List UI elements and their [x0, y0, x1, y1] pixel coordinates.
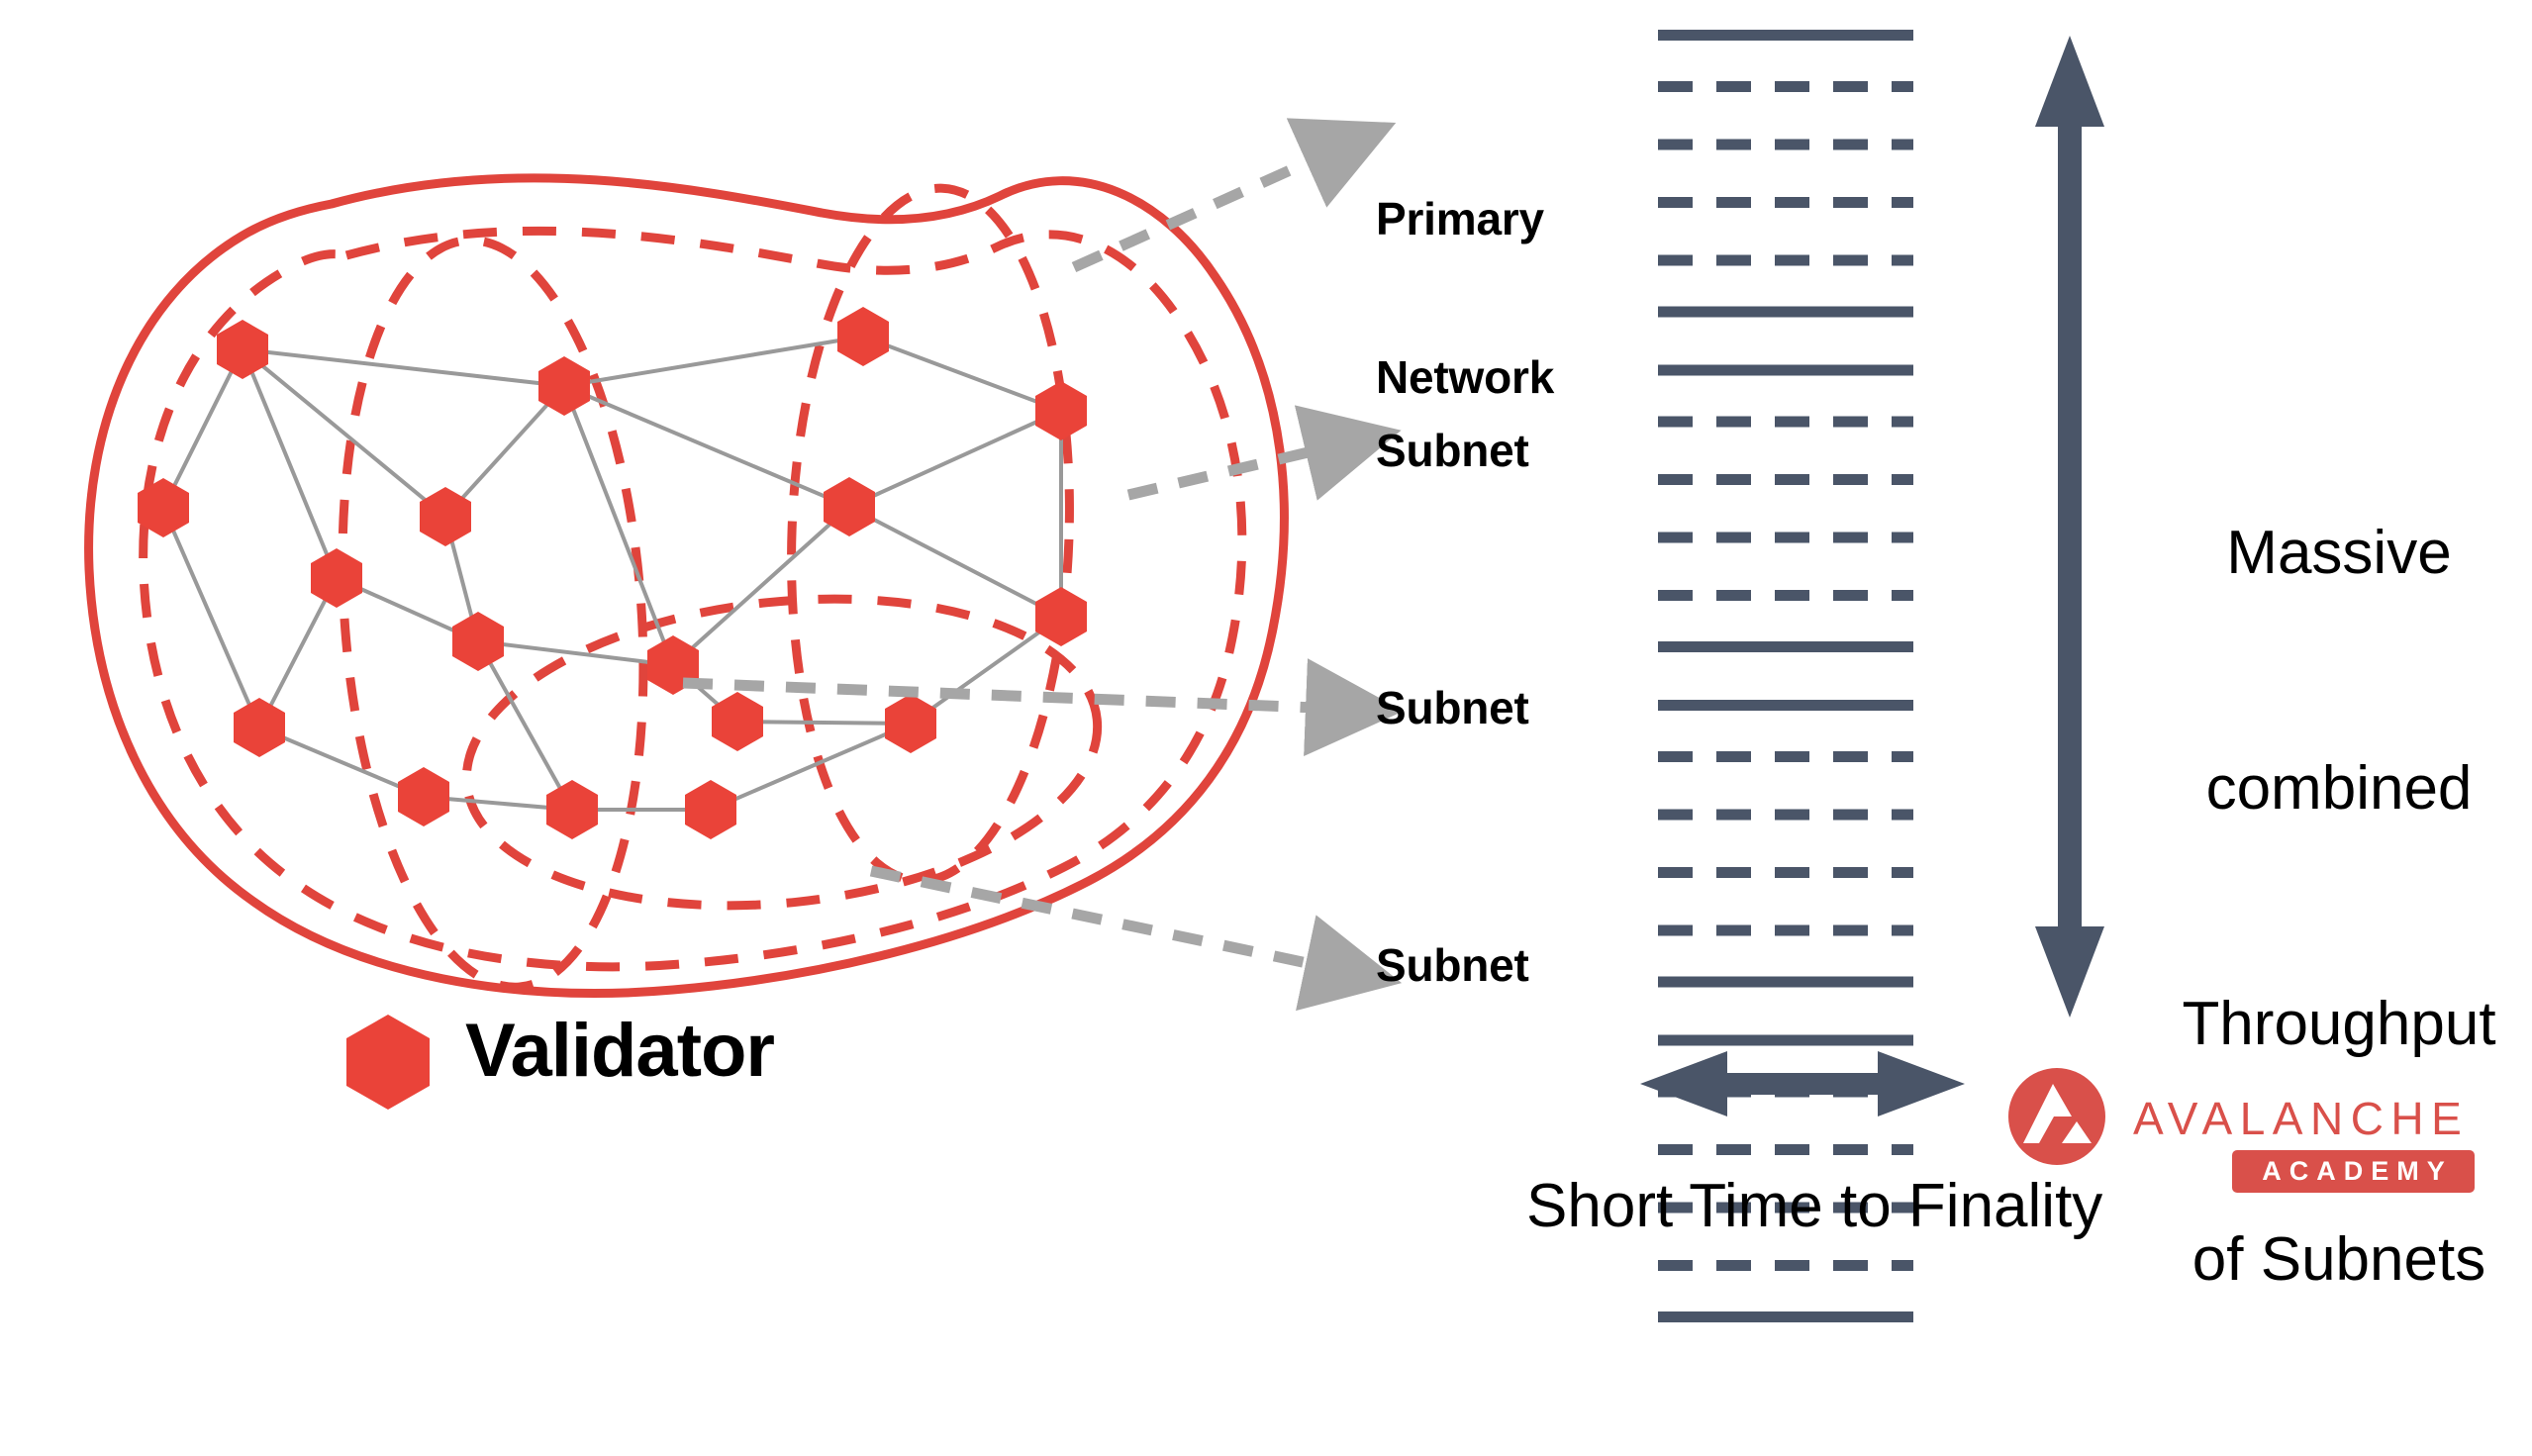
diagram-canvas: Primary Network Subnet Subnet Subnet Val…	[0, 0, 2532, 1263]
academy-badge-label: ACADEMY	[2254, 1156, 2453, 1187]
academy-badge[interactable]: ACADEMY	[2232, 1150, 2475, 1193]
avalanche-logo-mark-layer	[0, 0, 2532, 1263]
avalanche-a-mark[interactable]	[2008, 1068, 2105, 1165]
block-solid-rule	[1658, 1311, 1913, 1322]
avalanche-wordmark[interactable]: AVALANCHE	[2133, 1092, 2469, 1145]
